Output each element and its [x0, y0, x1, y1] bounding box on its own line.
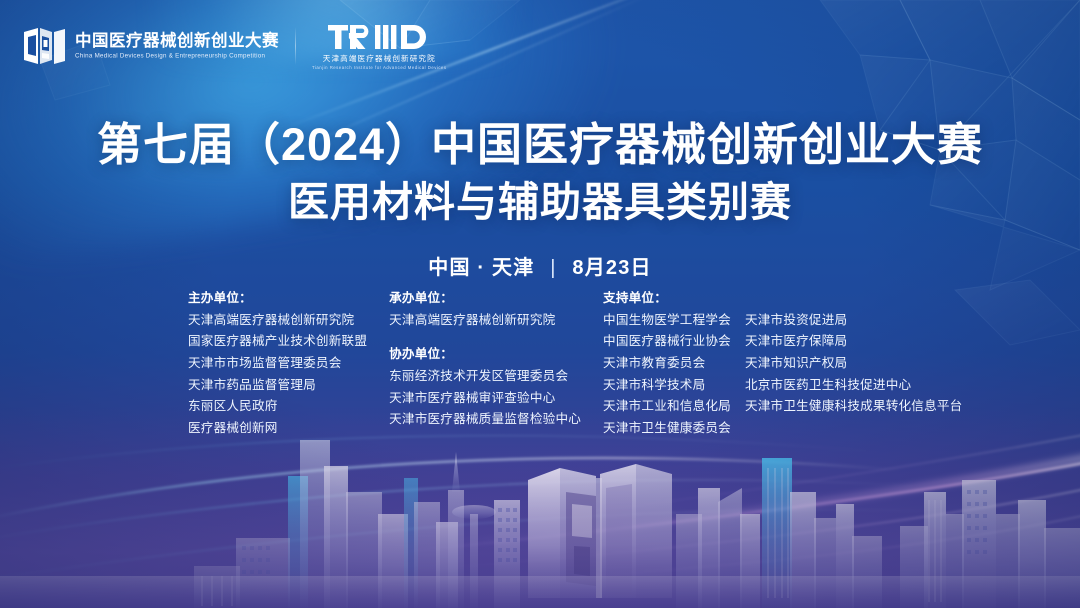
organizer-item: 中国医疗器械行业协会: [603, 331, 731, 353]
organizers-block: 主办单位： 天津高端医疗器械创新研究院 国家医疗器械产业技术创新联盟 天津市市场…: [188, 288, 962, 440]
event-location: 中国 · 天津: [428, 257, 534, 279]
support-subcolumn-left: 中国生物医学工程学会 中国医疗器械行业协会 天津市教育委员会 天津市科学技术局 …: [603, 310, 731, 440]
support-subcolumns: 中国生物医学工程学会 中国医疗器械行业协会 天津市教育委员会 天津市科学技术局 …: [603, 310, 962, 440]
competition-logo-name-en: China Medical Devices Design & Entrepren…: [75, 51, 279, 61]
organizer-item: 天津高端医疗器械创新研究院: [188, 310, 367, 332]
organizer-item: 天津市教育委员会: [603, 353, 731, 375]
event-date: 8月23日: [572, 257, 651, 279]
organizer-heading: 承办单位：: [389, 288, 581, 310]
logo-divider: [295, 27, 296, 65]
organizer-item: 东丽经济技术开发区管理委员会: [389, 366, 581, 388]
organizer-item: 天津市医疗器械质量监督检验中心: [389, 409, 581, 431]
organizer-item: 国家医疗器械产业技术创新联盟: [188, 331, 367, 353]
organizer-heading-secondary: 协办单位：: [389, 344, 581, 366]
organizer-item: 天津市知识产权局: [745, 353, 963, 375]
organizer-item: 天津市卫生健康委员会: [603, 418, 731, 440]
competition-logo-name-cn: 中国医疗器械创新创业大赛: [75, 32, 279, 51]
organizer-item: 天津市医疗器械审评查验中心: [389, 388, 581, 410]
institute-name-en: Tianjin Research Institute for Advanced …: [312, 65, 447, 70]
organizer-item: 医疗器械创新网: [188, 418, 367, 440]
event-poster: 中国医疗器械创新创业大赛 China Medical Devices Desig…: [0, 0, 1080, 608]
organizer-item: 天津市市场监督管理委员会: [188, 353, 367, 375]
organizer-item: 北京市医药卫生科技促进中心: [745, 375, 963, 397]
organizer-item: 天津市药品监督管理局: [188, 375, 367, 397]
organizer-item: 天津市医疗保障局: [745, 331, 963, 353]
open-door-book-logo-icon: [22, 26, 66, 66]
header-logos: 中国医疗器械创新创业大赛 China Medical Devices Desig…: [22, 22, 447, 70]
organizer-heading: 主办单位：: [188, 288, 367, 310]
organizer-heading: 支持单位：: [603, 288, 962, 310]
organizer-item: 天津市投资促进局: [745, 310, 963, 332]
trimd-wordmark-icon: [327, 22, 431, 52]
title-block: 第七届（2024）中国医疗器械创新创业大赛 医用材料与辅助器具类别赛 中国 · …: [0, 118, 1080, 280]
organizer-item: 天津高端医疗器械创新研究院: [389, 310, 581, 332]
organizer-item: 东丽区人民政府: [188, 396, 367, 418]
organizer-column-support: 支持单位： 中国生物医学工程学会 中国医疗器械行业协会 天津市教育委员会 天津市…: [603, 288, 962, 440]
organizer-column-host: 主办单位： 天津高端医疗器械创新研究院 国家医疗器械产业技术创新联盟 天津市市场…: [188, 288, 367, 440]
support-subcolumn-right: 天津市投资促进局 天津市医疗保障局 天津市知识产权局 北京市医药卫生科技促进中心…: [745, 310, 963, 440]
organizer-section-gap: [389, 331, 581, 344]
main-title: 第七届（2024）中国医疗器械创新创业大赛: [0, 118, 1080, 171]
sub-title: 医用材料与辅助器具类别赛: [0, 178, 1080, 227]
institute-logo: 天津高端医疗器械创新研究院 Tianjin Research Institute…: [312, 22, 447, 70]
organizer-item: 中国生物医学工程学会: [603, 310, 731, 332]
organizer-column-organizer: 承办单位： 天津高端医疗器械创新研究院 协办单位： 东丽经济技术开发区管理委员会…: [389, 288, 581, 431]
organizer-item: 天津市卫生健康科技成果转化信息平台: [745, 396, 963, 418]
event-meta: 中国 · 天津 | 8月23日: [0, 251, 1080, 280]
meta-separator: |: [550, 257, 556, 280]
competition-logo: 中国医疗器械创新创业大赛 China Medical Devices Desig…: [22, 26, 279, 66]
organizer-item: 天津市科学技术局: [603, 375, 731, 397]
organizer-item: 天津市工业和信息化局: [603, 396, 731, 418]
institute-name-cn: 天津高端医疗器械创新研究院: [323, 54, 436, 63]
